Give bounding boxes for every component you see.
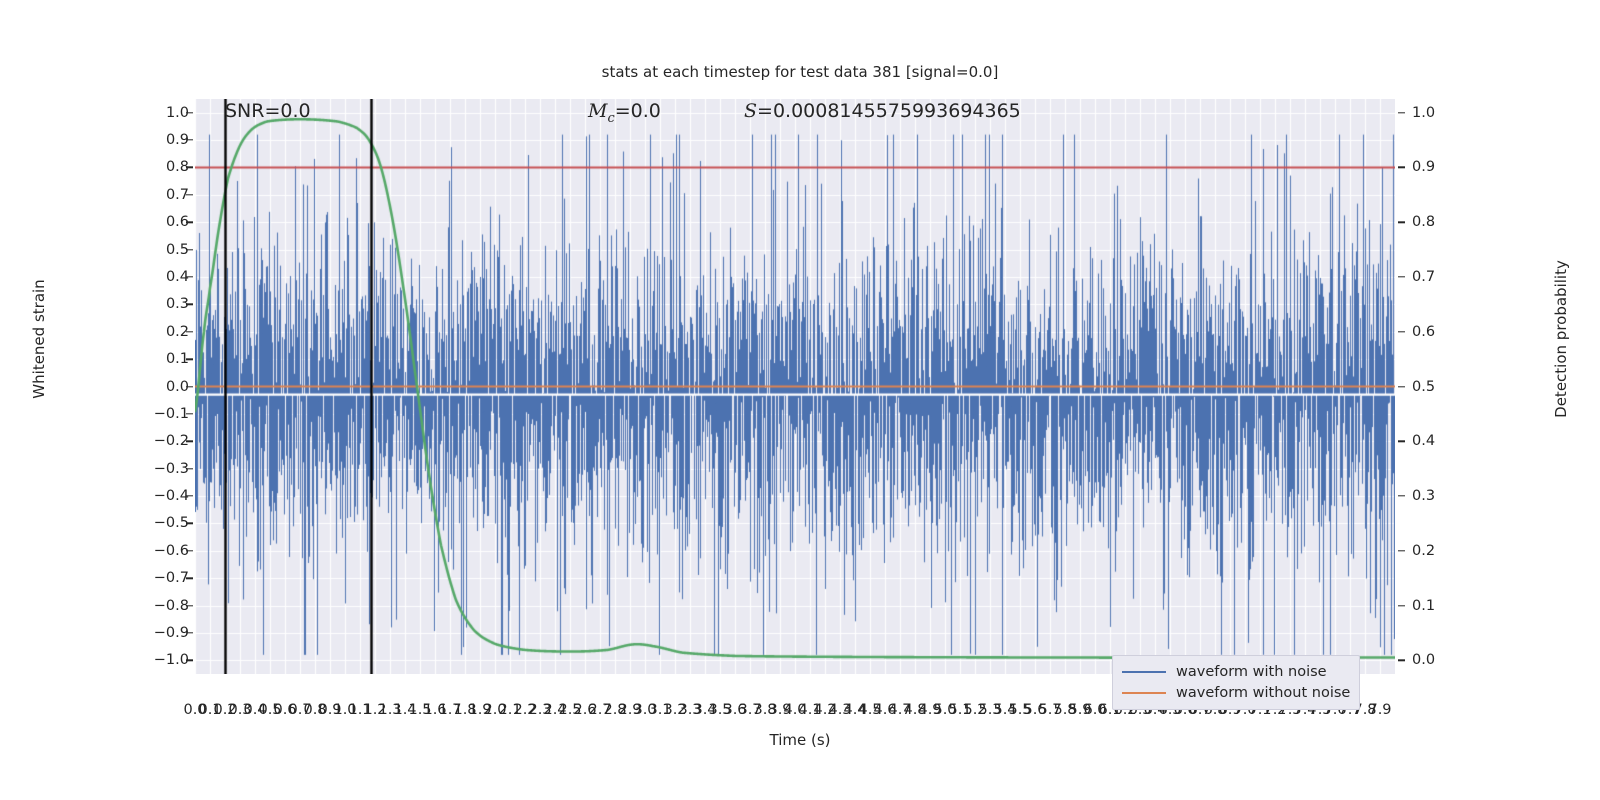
y-left-tick-label: −1.0 <box>69 652 189 668</box>
legend-swatch-orange <box>1122 692 1166 694</box>
mc-subscript: c <box>607 111 614 126</box>
y-left-tick-mark <box>186 276 193 277</box>
y-left-tick-mark <box>186 358 193 359</box>
y-left-tick-mark <box>186 577 193 578</box>
y-right-tick-label: 0.8 <box>1412 214 1532 230</box>
y-right-tick-label: 0.1 <box>1412 598 1532 614</box>
y-right-tick-mark <box>1398 386 1405 387</box>
y-right-tick-label: 0.3 <box>1412 488 1532 504</box>
legend-item-waveform-with-noise: waveform with noise <box>1122 661 1350 682</box>
y-left-tick-mark <box>186 660 193 661</box>
y-right-tick-label: 1.0 <box>1412 105 1532 121</box>
annotation-snr: SNR=0.0 <box>225 100 311 122</box>
plot-title: stats at each timestep for test data 381… <box>0 63 1600 81</box>
y-right-tick-mark <box>1398 167 1405 168</box>
y-right-tick-mark <box>1398 550 1405 551</box>
y-right-tick-label: 0.0 <box>1412 652 1532 668</box>
y-left-tick-mark <box>186 304 193 305</box>
legend-label-without-noise: waveform without noise <box>1176 685 1350 701</box>
s-symbol: S <box>744 100 757 122</box>
y-left-tick-label: −0.3 <box>69 461 189 477</box>
y-left-tick-label: 0.9 <box>69 132 189 148</box>
y-right-tick-label: 0.7 <box>1412 269 1532 285</box>
y-left-tick-mark <box>186 194 193 195</box>
y-right-tick-label: 0.2 <box>1412 543 1532 559</box>
legend-item-waveform-without-noise: waveform without noise <box>1122 682 1350 703</box>
y-axis-right-label: Detection probability <box>1552 159 1570 519</box>
y-left-tick-label: 0.7 <box>69 187 189 203</box>
plot-axes <box>195 99 1395 674</box>
y-right-tick-label: 0.9 <box>1412 159 1532 175</box>
y-left-tick-mark <box>186 550 193 551</box>
y-left-tick-label: −0.5 <box>69 515 189 531</box>
y-right-tick-mark <box>1398 222 1405 223</box>
mc-value: =0.0 <box>615 100 661 122</box>
y-right-tick-label: 0.5 <box>1412 379 1532 395</box>
y-left-tick-mark <box>186 139 193 140</box>
y-left-tick-label: 0.2 <box>69 324 189 340</box>
y-left-tick-label: −0.1 <box>69 406 189 422</box>
legend: waveform with noise waveform without noi… <box>1112 655 1360 710</box>
s-value: =0.0008145575993694365 <box>757 100 1021 122</box>
y-right-tick-label: 0.6 <box>1412 324 1532 340</box>
y-right-tick-mark <box>1398 441 1405 442</box>
y-right-tick-label: 0.4 <box>1412 433 1532 449</box>
mc-symbol: M <box>588 100 607 122</box>
y-left-tick-label: −0.2 <box>69 433 189 449</box>
y-right-tick-mark <box>1398 276 1405 277</box>
y-left-tick-mark <box>186 523 193 524</box>
annotation-score: S=0.0008145575993694365 <box>744 100 1021 122</box>
y-left-tick-label: −0.4 <box>69 488 189 504</box>
y-left-tick-mark <box>186 249 193 250</box>
y-left-tick-label: 0.4 <box>69 269 189 285</box>
y-right-tick-mark <box>1398 660 1405 661</box>
y-right-tick-mark <box>1398 331 1405 332</box>
x-tick-label: 7.9 <box>1368 702 1391 718</box>
y-left-tick-mark <box>186 222 193 223</box>
legend-swatch-blue <box>1122 671 1166 673</box>
y-left-tick-label: −0.7 <box>69 570 189 586</box>
y-left-tick-mark <box>186 167 193 168</box>
y-left-tick-label: 0.8 <box>69 159 189 175</box>
y-left-tick-mark <box>186 468 193 469</box>
y-left-tick-label: −0.6 <box>69 543 189 559</box>
y-left-tick-label: 0.5 <box>69 242 189 258</box>
y-right-tick-mark <box>1398 112 1405 113</box>
annotation-chirp-mass: Mc=0.0 <box>588 100 661 126</box>
y-left-tick-mark <box>186 386 193 387</box>
y-left-tick-mark <box>186 605 193 606</box>
y-left-tick-label: −0.8 <box>69 598 189 614</box>
x-axis-label: Time (s) <box>0 731 1600 749</box>
y-left-tick-mark <box>186 112 193 113</box>
legend-label-with-noise: waveform with noise <box>1176 664 1327 680</box>
y-left-tick-mark <box>186 632 193 633</box>
y-left-tick-label: −0.9 <box>69 625 189 641</box>
figure: stats at each timestep for test data 381… <box>0 0 1600 800</box>
y-right-tick-mark <box>1398 495 1405 496</box>
y-right-tick-mark <box>1398 605 1405 606</box>
y-left-tick-mark <box>186 441 193 442</box>
y-left-tick-label: 1.0 <box>69 105 189 121</box>
y-left-tick-label: 0.1 <box>69 351 189 367</box>
y-left-tick-mark <box>186 331 193 332</box>
y-left-tick-label: 0.6 <box>69 214 189 230</box>
y-left-tick-mark <box>186 495 193 496</box>
y-left-tick-mark <box>186 413 193 414</box>
y-axis-left-label: Whitened strain <box>30 159 48 519</box>
y-left-tick-label: 0.0 <box>69 379 189 395</box>
data-canvas <box>195 99 1395 674</box>
y-left-tick-label: 0.3 <box>69 296 189 312</box>
